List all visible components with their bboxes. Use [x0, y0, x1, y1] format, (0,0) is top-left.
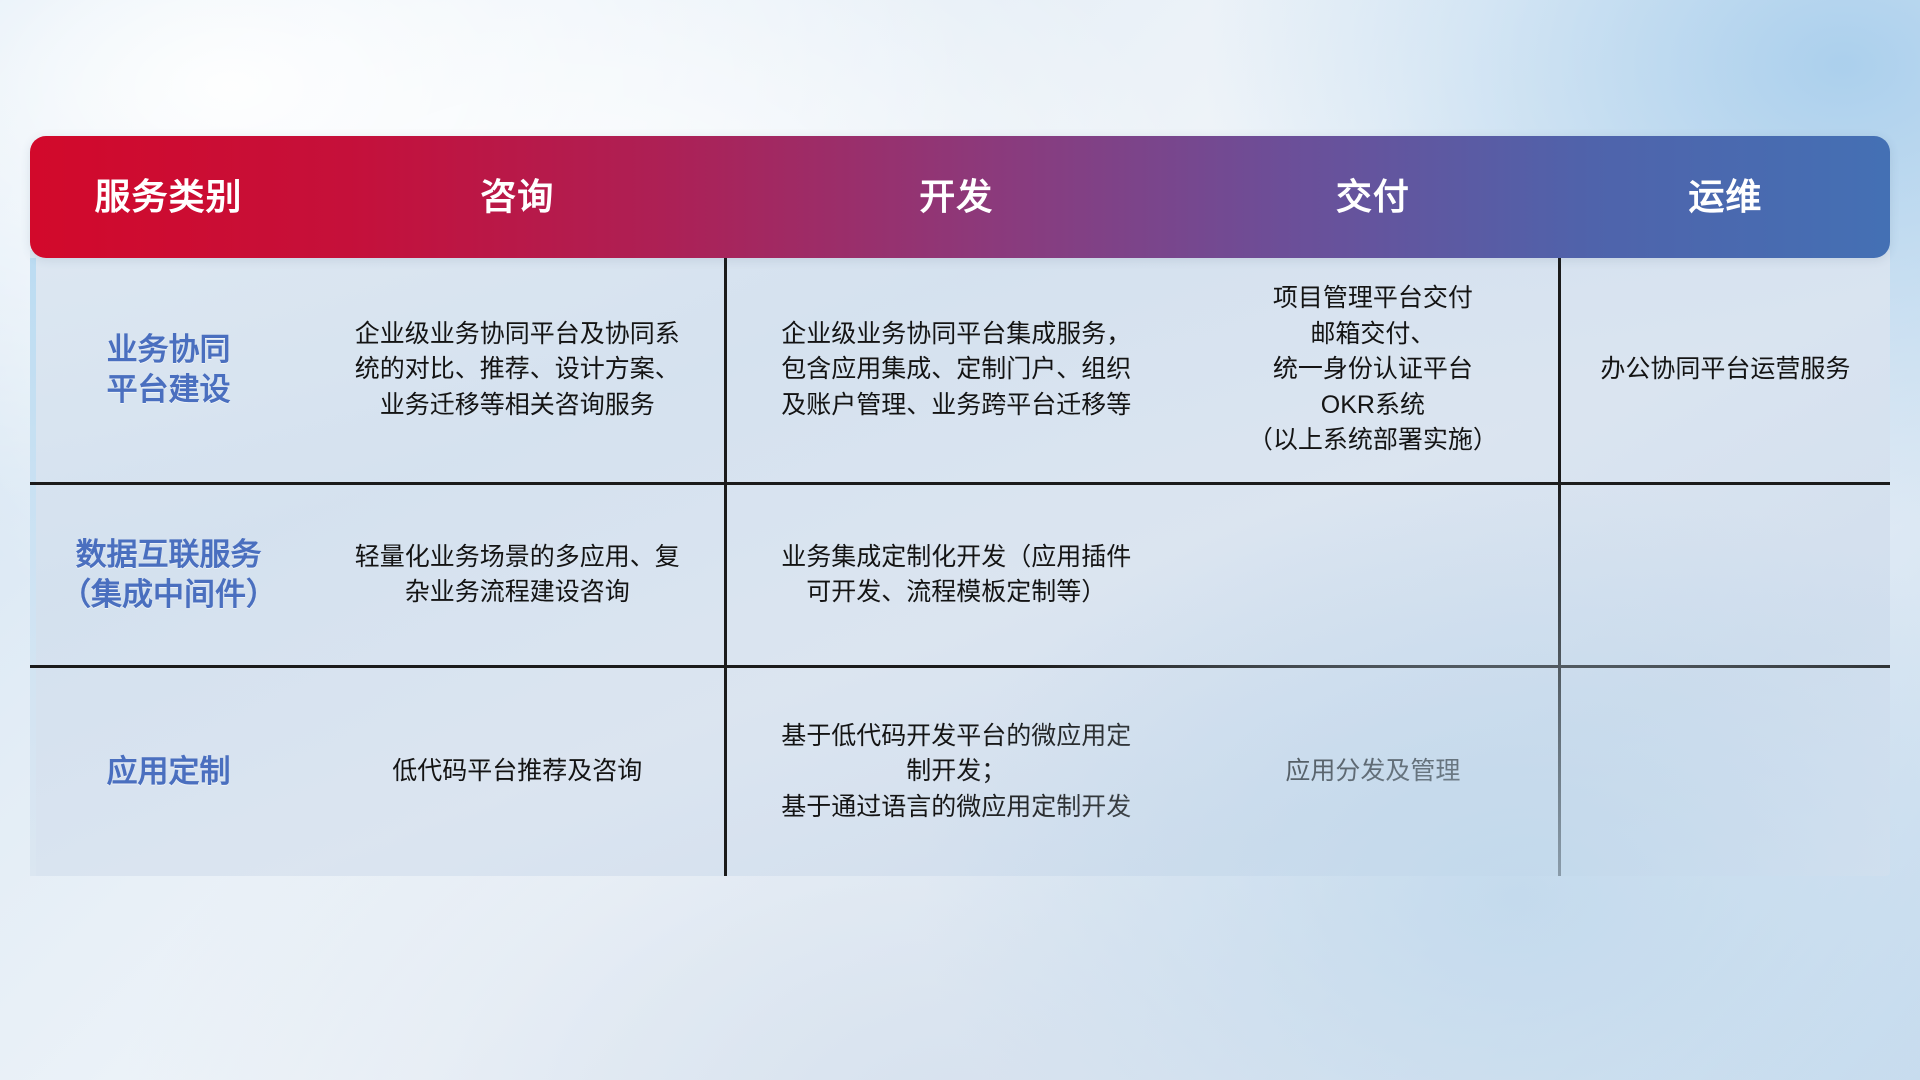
cell-development-1: 企业级业务协同平台集成服务， 包含应用集成、定制门户、组织 及账户管理、业务跨平… [727, 258, 1185, 482]
table-row: 应用定制 低代码平台推荐及咨询 基于低代码开发平台的微应用定 制开发； 基于通过… [30, 665, 1890, 876]
column-header-development: 开发 [727, 177, 1185, 217]
cell-delivery-1: 项目管理平台交付 邮箱交付、 统一身份认证平台 OKR系统 （以上系统部署实施） [1185, 258, 1561, 482]
table-row: 业务协同 平台建设 企业级业务协同平台及协同系 统的对比、推荐、设计方案、 业务… [30, 258, 1890, 482]
cell-category-2: 数据互联服务 （集成中间件） [30, 485, 307, 665]
cell-category-3: 应用定制 [30, 668, 307, 876]
cell-category-1: 业务协同 平台建设 [30, 258, 307, 482]
cell-consulting-3: 低代码平台推荐及咨询 [307, 668, 727, 876]
cell-consulting-1: 企业级业务协同平台及协同系 统的对比、推荐、设计方案、 业务迁移等相关咨询服务 [307, 258, 727, 482]
cell-operations-2 [1561, 485, 1890, 665]
column-header-consulting: 咨询 [307, 177, 727, 217]
table-header-row: 服务类别 咨询 开发 交付 运维 [30, 136, 1890, 258]
cell-operations-3 [1561, 668, 1890, 876]
cell-operations-1: 办公协同平台运营服务 [1561, 258, 1890, 482]
column-header-delivery: 交付 [1185, 177, 1561, 217]
cell-development-3: 基于低代码开发平台的微应用定 制开发； 基于通过语言的微应用定制开发 [727, 668, 1185, 876]
services-table: 服务类别 咨询 开发 交付 运维 业务协同 平台建设 企业级业务协同平台及协同系… [30, 136, 1890, 956]
slide-canvas: 服务类别 咨询 开发 交付 运维 业务协同 平台建设 企业级业务协同平台及协同系… [0, 0, 1920, 1080]
cell-development-2: 业务集成定制化开发（应用插件 可开发、流程模板定制等） [727, 485, 1185, 665]
table-row: 数据互联服务 （集成中间件） 轻量化业务场景的多应用、复 杂业务流程建设咨询 业… [30, 482, 1890, 665]
cell-delivery-2 [1185, 485, 1561, 665]
column-header-operations: 运维 [1561, 177, 1890, 217]
table-body: 业务协同 平台建设 企业级业务协同平台及协同系 统的对比、推荐、设计方案、 业务… [30, 250, 1890, 876]
cell-delivery-3: 应用分发及管理 [1185, 668, 1561, 876]
column-header-category: 服务类别 [30, 177, 307, 217]
cell-consulting-2: 轻量化业务场景的多应用、复 杂业务流程建设咨询 [307, 485, 727, 665]
